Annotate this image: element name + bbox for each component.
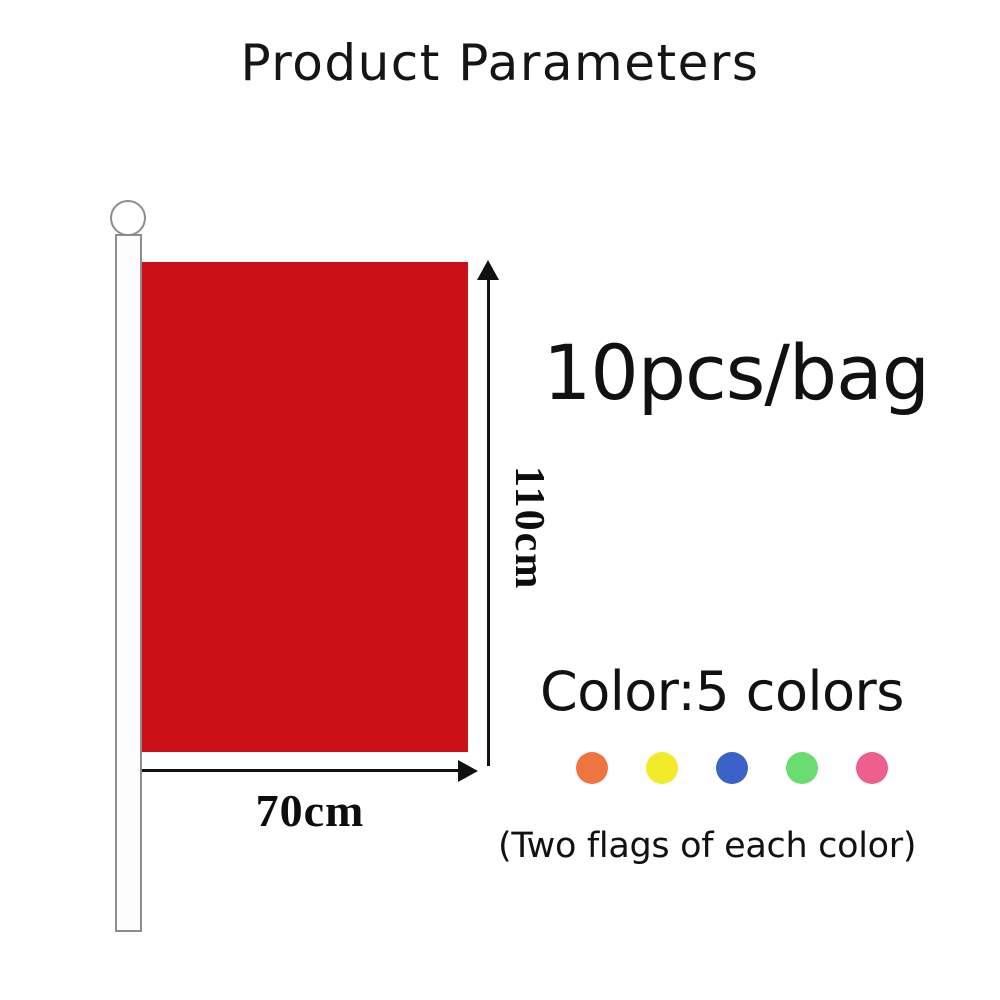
height-dimension-line bbox=[487, 272, 490, 766]
color-swatch-yellow bbox=[646, 752, 678, 784]
color-swatch-green bbox=[786, 752, 818, 784]
flag-pole bbox=[115, 234, 142, 932]
product-parameters-image: Product Parameters 110cm 70cm 10pcs/bag … bbox=[0, 0, 1000, 1000]
height-dimension-arrowhead-icon bbox=[477, 260, 499, 280]
width-dimension-label: 70cm bbox=[150, 784, 470, 837]
color-swatch-blue bbox=[716, 752, 748, 784]
quantity-note: (Two flags of each color) bbox=[498, 826, 916, 866]
width-dimension-arrowhead-icon bbox=[458, 760, 478, 782]
height-dimension-label: 110cm bbox=[505, 466, 553, 626]
pole-finial-ball-icon bbox=[110, 200, 146, 236]
width-dimension-line bbox=[142, 769, 464, 772]
quantity-label: 10pcs/bag bbox=[543, 328, 929, 417]
color-count-label: Color:5 colors bbox=[540, 660, 904, 723]
color-swatch-orange bbox=[576, 752, 608, 784]
color-swatch-pink bbox=[856, 752, 888, 784]
page-title: Product Parameters bbox=[0, 36, 1000, 91]
color-swatch-row bbox=[576, 752, 906, 786]
flag-cloth bbox=[142, 262, 468, 752]
